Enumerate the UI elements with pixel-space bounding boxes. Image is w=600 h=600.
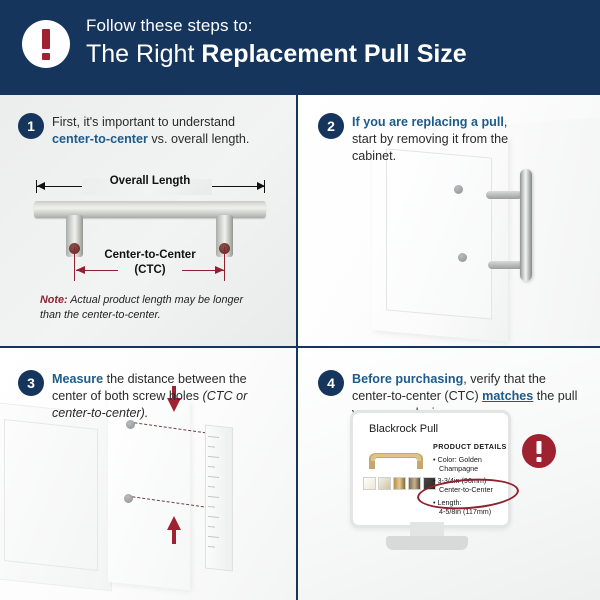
monitor-base <box>386 536 468 550</box>
step-4-number: 4 <box>318 370 344 396</box>
exclamation-dot <box>42 53 50 60</box>
bar-pull-removed <box>520 169 532 281</box>
title-light: The Right <box>86 40 201 68</box>
ruler-tick <box>208 536 219 538</box>
note-text: Actual product length may be longer than… <box>40 294 243 321</box>
step-4-panel: 4 Before purchasing, verify that the cen… <box>298 348 600 600</box>
step-3-panel: 3 Measure the distance between the cente… <box>0 348 298 600</box>
cabinet-door-inset <box>386 148 492 319</box>
pull-arm-top <box>486 191 522 199</box>
exclamation-dot <box>537 457 542 462</box>
swatch-thumbnail[interactable] <box>363 477 376 490</box>
ruler-tick <box>208 546 215 548</box>
ruler-tick <box>208 476 219 478</box>
swatch-thumbnail[interactable] <box>393 477 406 490</box>
exclamation-circle-icon <box>22 20 70 68</box>
monitor-screen: Blackrock Pull PRODUCT DETAILS • Color: … <box>350 410 511 528</box>
screw-hole-top <box>454 185 463 194</box>
ruler-tick <box>208 486 215 488</box>
ruler-tick <box>208 456 219 458</box>
page-header: Follow these steps to: The Right Replace… <box>0 0 600 95</box>
ruler-tick <box>208 446 215 448</box>
exclamation-circle-icon <box>522 434 556 468</box>
ctc-arrow-left <box>76 266 85 274</box>
step-1-line2: vs. overall length. <box>148 132 250 146</box>
overall-arrow-left <box>37 182 45 190</box>
step-2-text: If you are replacing a pull, start by re… <box>352 114 512 165</box>
step-3-text: Measure the distance between the center … <box>52 371 274 422</box>
step-1-number: 1 <box>18 113 44 139</box>
step-1-panel: 1 First, it's important to understand ce… <box>0 95 298 348</box>
ruler-tick <box>208 466 215 468</box>
ruler-tick <box>208 496 219 498</box>
screw-hole-bottom <box>458 253 467 262</box>
step-2-number: 2 <box>318 113 344 139</box>
ctc-arrow-right <box>215 266 224 274</box>
ctc-label-line1: Center-to-Center <box>30 249 270 261</box>
step-1-text: First, it's important to understand cent… <box>52 114 280 148</box>
page-title: The Right Replacement Pull Size <box>86 40 467 69</box>
step-4-matches-link[interactable]: matches <box>482 389 533 403</box>
swatch-thumbnail[interactable] <box>378 477 391 490</box>
overall-arrow-right <box>257 182 265 190</box>
step-1-note: Note: Actual product length may be longe… <box>40 293 264 323</box>
ruler-tick <box>208 526 215 528</box>
detail-line: Color: Golden <box>438 455 482 464</box>
swatch-thumbnail[interactable] <box>408 477 421 490</box>
infographic-page: Follow these steps to: The Right Replace… <box>0 0 600 600</box>
ruler-icon <box>205 425 233 572</box>
arrow-stem-bottom <box>172 530 176 544</box>
product-image <box>365 445 427 471</box>
ruler-tick <box>208 436 219 438</box>
step-1-line1: First, it's important to understand <box>52 115 235 129</box>
product-detail-color: • Color: Golden Champagne <box>433 455 482 473</box>
step-3-number: 3 <box>18 370 44 396</box>
title-bold: Replacement Pull Size <box>201 40 466 68</box>
exclamation-bar <box>537 441 542 454</box>
step-3-bold: Measure <box>52 372 103 386</box>
pull-arm-bottom <box>488 261 524 269</box>
ctc-label-line2: (CTC) <box>30 264 270 276</box>
measure-arrow-up <box>167 516 181 530</box>
ruler-tick <box>208 506 215 508</box>
header-kicker: Follow these steps to: <box>86 16 253 36</box>
ruler-tick <box>208 516 219 518</box>
step-1-bold: center-to-center <box>52 132 148 146</box>
exclamation-bar <box>42 29 50 49</box>
detail-line: Champagne <box>433 464 478 473</box>
overall-length-label: Overall Length <box>30 175 270 187</box>
step-2-bold: If you are replacing a pull <box>352 115 504 129</box>
cabinet-left-door-inset <box>4 419 98 571</box>
step-2-panel: 2 If you are replacing a pull, start by … <box>298 95 600 348</box>
product-details-heading: PRODUCT DETAILS <box>433 442 507 451</box>
product-card-title: Blackrock Pull <box>369 423 438 435</box>
step-4-bold: Before purchasing <box>352 372 463 386</box>
note-label: Note: <box>40 294 68 306</box>
